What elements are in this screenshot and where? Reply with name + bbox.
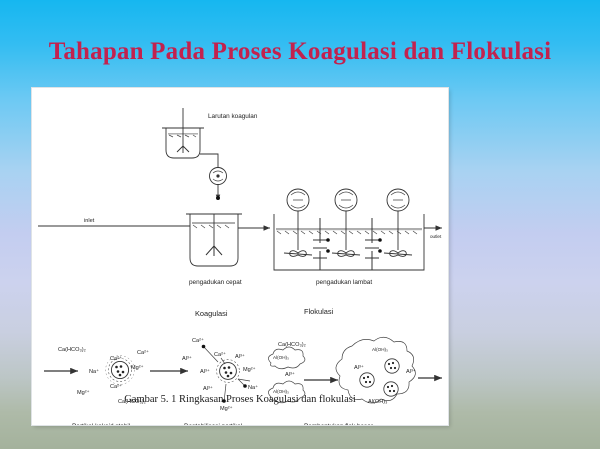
species-stage1-6: Ca²⁺ xyxy=(110,383,122,390)
slow-mix-basin xyxy=(274,189,424,270)
label-pengadukan-cepat: pengadukan cepat xyxy=(189,279,242,286)
label-pengadukan-lambat: pengadukan lambat xyxy=(316,279,372,286)
species-stage1-1: Ca²⁺ xyxy=(137,349,149,356)
caption-stage-3: Pembentukan flok besar xyxy=(304,423,374,425)
label-larutan-koagulan-line1: Larutan koagulan xyxy=(208,113,258,120)
species-stage2-0: Ca²⁺ xyxy=(192,337,204,344)
species-stage2-8: Mg²⁺ xyxy=(220,405,233,412)
species-stage2-5: Mg²⁺ xyxy=(243,366,256,373)
species-stage2-1: Al³⁺ xyxy=(182,355,192,362)
species-stage2-7: Na⁺ xyxy=(248,384,258,391)
caption-stage-2: Destabilisasi partikel xyxy=(184,423,242,425)
floc-colloid-a xyxy=(360,373,374,387)
species-stage3-1: Al(OH)₃ xyxy=(273,355,289,360)
heading-koagulasi: Koagulasi xyxy=(195,309,228,318)
heading-flokulasi: Flokulasi xyxy=(304,307,334,316)
species-stage1-2: Ca²⁺ xyxy=(110,355,122,362)
species-stage2-3: Al³⁺ xyxy=(235,353,245,360)
species-stage3-4: Al(OH)₃ xyxy=(372,347,388,352)
species-stage3-5: Al³⁺ xyxy=(354,364,364,371)
page-title: Tahapan Pada Proses Koagulasi dan Flokul… xyxy=(0,38,600,66)
species-stage2-6: Al³⁺ xyxy=(203,385,213,392)
dosing-pump xyxy=(210,168,227,185)
species-stage3-2: Al³⁺ xyxy=(285,371,295,378)
caption-stage-1: Partikel kokoid stabil xyxy=(72,423,130,425)
coagulant-tank xyxy=(162,108,204,158)
label-outlet: outlet xyxy=(430,234,442,239)
figure-caption: Gambar 5. 1 Ringkasan Proses Koagulasi d… xyxy=(32,394,448,405)
species-stage3-6: Al³⁺ xyxy=(406,368,416,375)
species-stage1-0: Ca(HCO₃)₂ xyxy=(58,347,86,353)
colloid-particle-2 xyxy=(217,360,240,383)
floc-colloid-b xyxy=(385,359,399,373)
label-inlet: inlet xyxy=(84,218,95,224)
species-stage3-0: Ca(HCO₃)₂ xyxy=(278,342,306,348)
bottom-mechanism-diagram: Koagulasi Flokulasi Ca(HCO₃)₂ Ca²⁺ xyxy=(44,307,442,425)
species-stage1-3: Mg²⁺ xyxy=(131,364,144,371)
species-stage1-4: Na⁺ xyxy=(89,368,99,375)
process-diagram: Larutan koagulan inlet xyxy=(32,88,448,425)
rapid-mix-tank xyxy=(186,214,242,266)
top-flow-diagram: Larutan koagulan inlet xyxy=(38,108,442,286)
figure-panel: Larutan koagulan inlet xyxy=(32,88,448,425)
species-stage2-2: Ca²⁺ xyxy=(214,351,226,358)
species-stage2-4: Al³⁺ xyxy=(200,368,210,375)
